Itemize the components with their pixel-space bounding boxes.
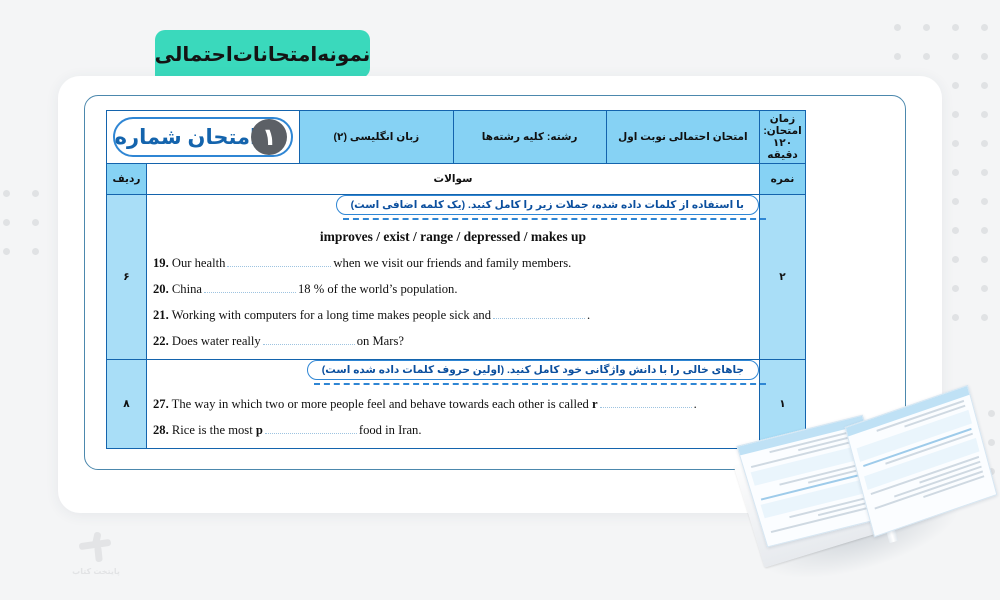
publisher-logo-icon	[79, 532, 113, 562]
question-19-text-before: Our health	[172, 256, 226, 270]
question-19-blank[interactable]	[227, 257, 331, 267]
question-20-text-after: 18 % of the world’s population.	[298, 282, 458, 296]
block-2-instruction-line: جاهای خالی را با دانش واژگانی خود کامل ک…	[147, 360, 759, 380]
header-field: رشته: کلیه رشته‌ها	[453, 111, 606, 164]
exam-logo-pill: امتحان شماره ۱	[113, 117, 294, 157]
block-2-question-list: 27. The way in which two or more people …	[147, 396, 759, 439]
question-27-hint-letter: r	[592, 397, 598, 411]
publisher-watermark-label: پایتخت کتاب	[72, 567, 120, 576]
block-1-body: با استفاده از کلمات داده شده، جملات زیر …	[147, 195, 760, 360]
question-22-text-after: on Mars?	[357, 334, 404, 348]
question-21-text-before: Working with computers for a long time m…	[172, 308, 491, 322]
question-28-text-after: food in Iran.	[359, 423, 422, 437]
question-28-hint-letter: p	[256, 423, 263, 437]
question-22-text-before: Does water really	[172, 334, 261, 348]
question-22-blank[interactable]	[263, 335, 355, 345]
publisher-watermark: پایتخت کتاب	[48, 520, 144, 588]
question-20-blank[interactable]	[204, 283, 296, 293]
exam-logo: امتحان شماره ۱	[107, 111, 299, 163]
question-28: 28. Rice is the most pfood in Iran.	[153, 422, 759, 439]
question-27-number: 27.	[153, 397, 169, 411]
column-title-score: نمره	[760, 164, 806, 195]
question-22-number: 22.	[153, 334, 169, 348]
category-badge-label: نمونه‌امتحانات‌احتمالی	[155, 42, 371, 66]
question-19-text-after: when we visit our friends and family mem…	[333, 256, 571, 270]
header-duration: زمان امتحان: ۱۲۰ دقیقه	[760, 111, 806, 164]
question-27-text-before: The way in which two or more people feel…	[172, 397, 589, 411]
exam-header-row: زمان امتحان: ۱۲۰ دقیقه امتحان احتمالی نو…	[107, 111, 806, 164]
header-subject: زبان انگلیسی (۲)	[300, 111, 453, 164]
block-1-instruction: با استفاده از کلمات داده شده، جملات زیر …	[336, 195, 759, 215]
block-2-instruction: جاهای خالی را با دانش واژگانی خود کامل ک…	[307, 360, 759, 380]
block-1-row-number: ۶	[107, 195, 147, 360]
column-title-questions: سوالات	[147, 164, 760, 195]
block-2-score: ۱	[760, 360, 806, 449]
question-19-number: 19.	[153, 256, 169, 270]
header-exam-type: امتحان احتمالی نوبت اول	[606, 111, 759, 164]
block-1-question-list: 19. Our healthwhen we visit our friends …	[147, 255, 759, 350]
exam-number: ۱	[262, 125, 277, 149]
question-21-text-after: .	[587, 308, 590, 322]
block-2-body: جاهای خالی را با دانش واژگانی خود کامل ک…	[147, 360, 760, 449]
exam-logo-cell: امتحان شماره ۱	[107, 111, 300, 164]
question-21-number: 21.	[153, 308, 169, 322]
block-1-score: ۲	[760, 195, 806, 360]
question-28-blank[interactable]	[265, 424, 357, 434]
question-22: 22. Does water reallyon Mars?	[153, 333, 759, 350]
exam-table: زمان امتحان: ۱۲۰ دقیقه امتحان احتمالی نو…	[106, 110, 806, 449]
question-20: 20. China18 % of the world’s population.	[153, 281, 759, 298]
question-27: 27. The way in which two or more people …	[153, 396, 759, 413]
question-28-text-before: Rice is the most	[172, 423, 253, 437]
question-block-2: ۱ جاهای خالی را با دانش واژگانی خود کامل…	[107, 360, 806, 449]
question-27-blank[interactable]	[600, 398, 692, 408]
exam-number-badge: ۱	[251, 119, 287, 155]
question-21: 21. Working with computers for a long ti…	[153, 307, 759, 324]
question-27-text-after: .	[694, 397, 697, 411]
question-19: 19. Our healthwhen we visit our friends …	[153, 255, 759, 272]
exam-column-titles: نمره سوالات ردیف	[107, 164, 806, 195]
block-2-row-number: ۸	[107, 360, 147, 449]
question-28-number: 28.	[153, 423, 169, 437]
question-20-text-before: China	[172, 282, 202, 296]
block-1-instruction-line: با استفاده از کلمات داده شده، جملات زیر …	[147, 195, 759, 215]
question-block-1: ۲ با استفاده از کلمات داده شده، جملات زی…	[107, 195, 806, 360]
question-20-number: 20.	[153, 282, 169, 296]
category-badge: نمونه‌امتحانات‌احتمالی	[155, 30, 370, 78]
exam-page-card: زمان امتحان: ۱۲۰ دقیقه امتحان احتمالی نو…	[58, 76, 942, 513]
dot-pattern-left	[0, 190, 54, 270]
column-title-row: ردیف	[107, 164, 147, 195]
block-1-wordbank: improves / exist / range / depressed / m…	[147, 229, 759, 245]
question-21-blank[interactable]	[493, 309, 585, 319]
